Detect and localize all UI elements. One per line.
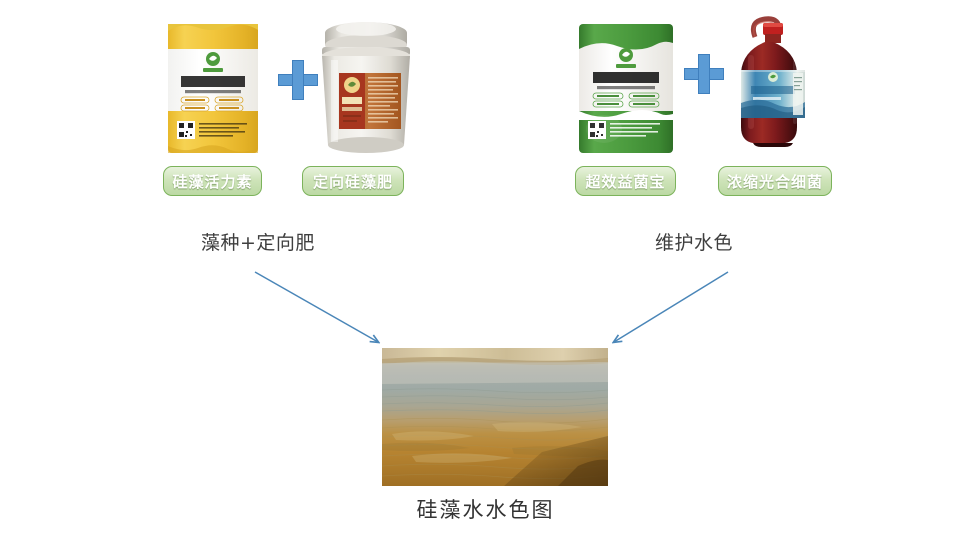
bag-yellow-illustration: [163, 21, 263, 156]
plus-icon-vertical-bar: [698, 54, 710, 94]
result-photo-caption: 硅藻水水色图: [0, 494, 971, 524]
bucket-illustration: [311, 15, 421, 157]
product-image-ding-xiang-gui-zao-fei: [310, 12, 422, 157]
bag-green-illustration: [574, 21, 678, 156]
product-label-chao-xiao-yi-jun-bao: 超效益菌宝: [575, 166, 676, 196]
flow-caption-right: 维护水色: [655, 228, 733, 255]
left-product-group: [160, 12, 420, 157]
product-label-text: 浓缩光合细菌: [727, 171, 823, 192]
product-image-chao-xiao-yi-jun-bao: [572, 16, 680, 156]
result-water-photo: [382, 348, 608, 486]
product-label-text: 硅藻活力素: [172, 171, 252, 192]
product-image-gui-zao-huo-li-su: [160, 16, 266, 156]
bottle-illustration: [721, 15, 825, 157]
diagram-canvas: 硅藻活力素 定向硅藻肥 超效益菌宝 浓缩光合细菌 藻种+定向肥 维护水色: [0, 0, 971, 538]
arrow-down-left-icon: [614, 272, 728, 342]
product-label-text: 定向硅藻肥: [313, 171, 393, 192]
product-label-text: 超效益菌宝: [585, 171, 665, 192]
water-photo-illustration: [382, 348, 608, 486]
product-image-nong-suo-guang-he-xi-jun: [718, 12, 828, 157]
right-product-group: [572, 12, 834, 157]
flow-caption-left: 藻种+定向肥: [201, 228, 315, 255]
product-label-gui-zao-huo-li-su: 硅藻活力素: [163, 166, 262, 196]
plus-icon-vertical-bar: [292, 60, 304, 100]
product-label-nong-suo-guang-he-xi-jun: 浓缩光合细菌: [718, 166, 832, 196]
arrow-down-right-icon: [255, 272, 378, 342]
product-label-ding-xiang-gui-zao-fei: 定向硅藻肥: [302, 166, 404, 196]
